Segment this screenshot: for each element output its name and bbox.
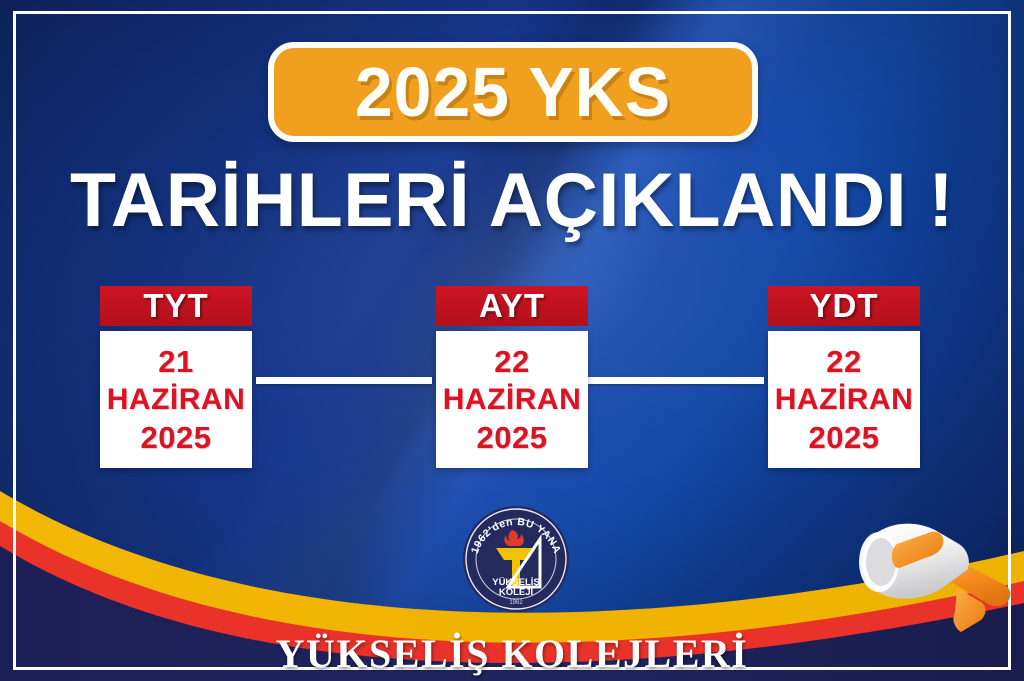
exam-card-month: HAZİRAN bbox=[443, 382, 582, 418]
logo-name-line2: KOLEJİ bbox=[499, 587, 533, 598]
card-connector-line-2 bbox=[588, 377, 764, 384]
exam-card-date: 22 HAZİRAN 2025 bbox=[436, 331, 588, 468]
exam-card-date: 22 HAZİRAN 2025 bbox=[768, 331, 920, 468]
exam-card-code: YDT bbox=[768, 286, 920, 326]
year-badge-label: 2025 YKS bbox=[355, 52, 671, 132]
megaphone-mouth bbox=[866, 538, 896, 586]
exam-card-code: TYT bbox=[100, 286, 252, 326]
page-title: TARİHLERİ AÇIKLANDI ! bbox=[5, 157, 1019, 244]
exam-card-month: HAZİRAN bbox=[107, 382, 246, 418]
exam-card-date: 21 HAZİRAN 2025 bbox=[100, 331, 252, 468]
exam-card-year: 2025 bbox=[809, 420, 880, 456]
poster-canvas: 2025 YKS TARİHLERİ AÇIKLANDI ! TYT 21 HA… bbox=[0, 0, 1024, 681]
year-badge: 2025 YKS bbox=[268, 42, 758, 142]
card-connector-line-1 bbox=[256, 377, 432, 384]
exam-card-day: 22 bbox=[826, 344, 861, 380]
exam-card-year: 2025 bbox=[141, 420, 212, 456]
exam-cards-row: TYT 21 HAZİRAN 2025 AYT 22 HAZİRAN 2025 … bbox=[0, 286, 1024, 476]
exam-card-ydt[interactable]: YDT 22 HAZİRAN 2025 bbox=[768, 286, 920, 468]
exam-card-day: 22 bbox=[494, 344, 529, 380]
exam-card-ayt[interactable]: AYT 22 HAZİRAN 2025 bbox=[436, 286, 588, 468]
exam-card-code: AYT bbox=[436, 286, 588, 326]
exam-card-year: 2025 bbox=[477, 420, 548, 456]
exam-card-month: HAZİRAN bbox=[775, 382, 914, 418]
megaphone-icon bbox=[845, 492, 1024, 657]
exam-card-day: 21 bbox=[158, 344, 193, 380]
exam-card-tyt[interactable]: TYT 21 HAZİRAN 2025 bbox=[100, 286, 252, 468]
school-logo-icon: 1962'den BU YANA YÜKSELİŞ KOLEJİ 1962 bbox=[462, 505, 570, 613]
logo-founded-year: 1962 bbox=[509, 600, 523, 606]
